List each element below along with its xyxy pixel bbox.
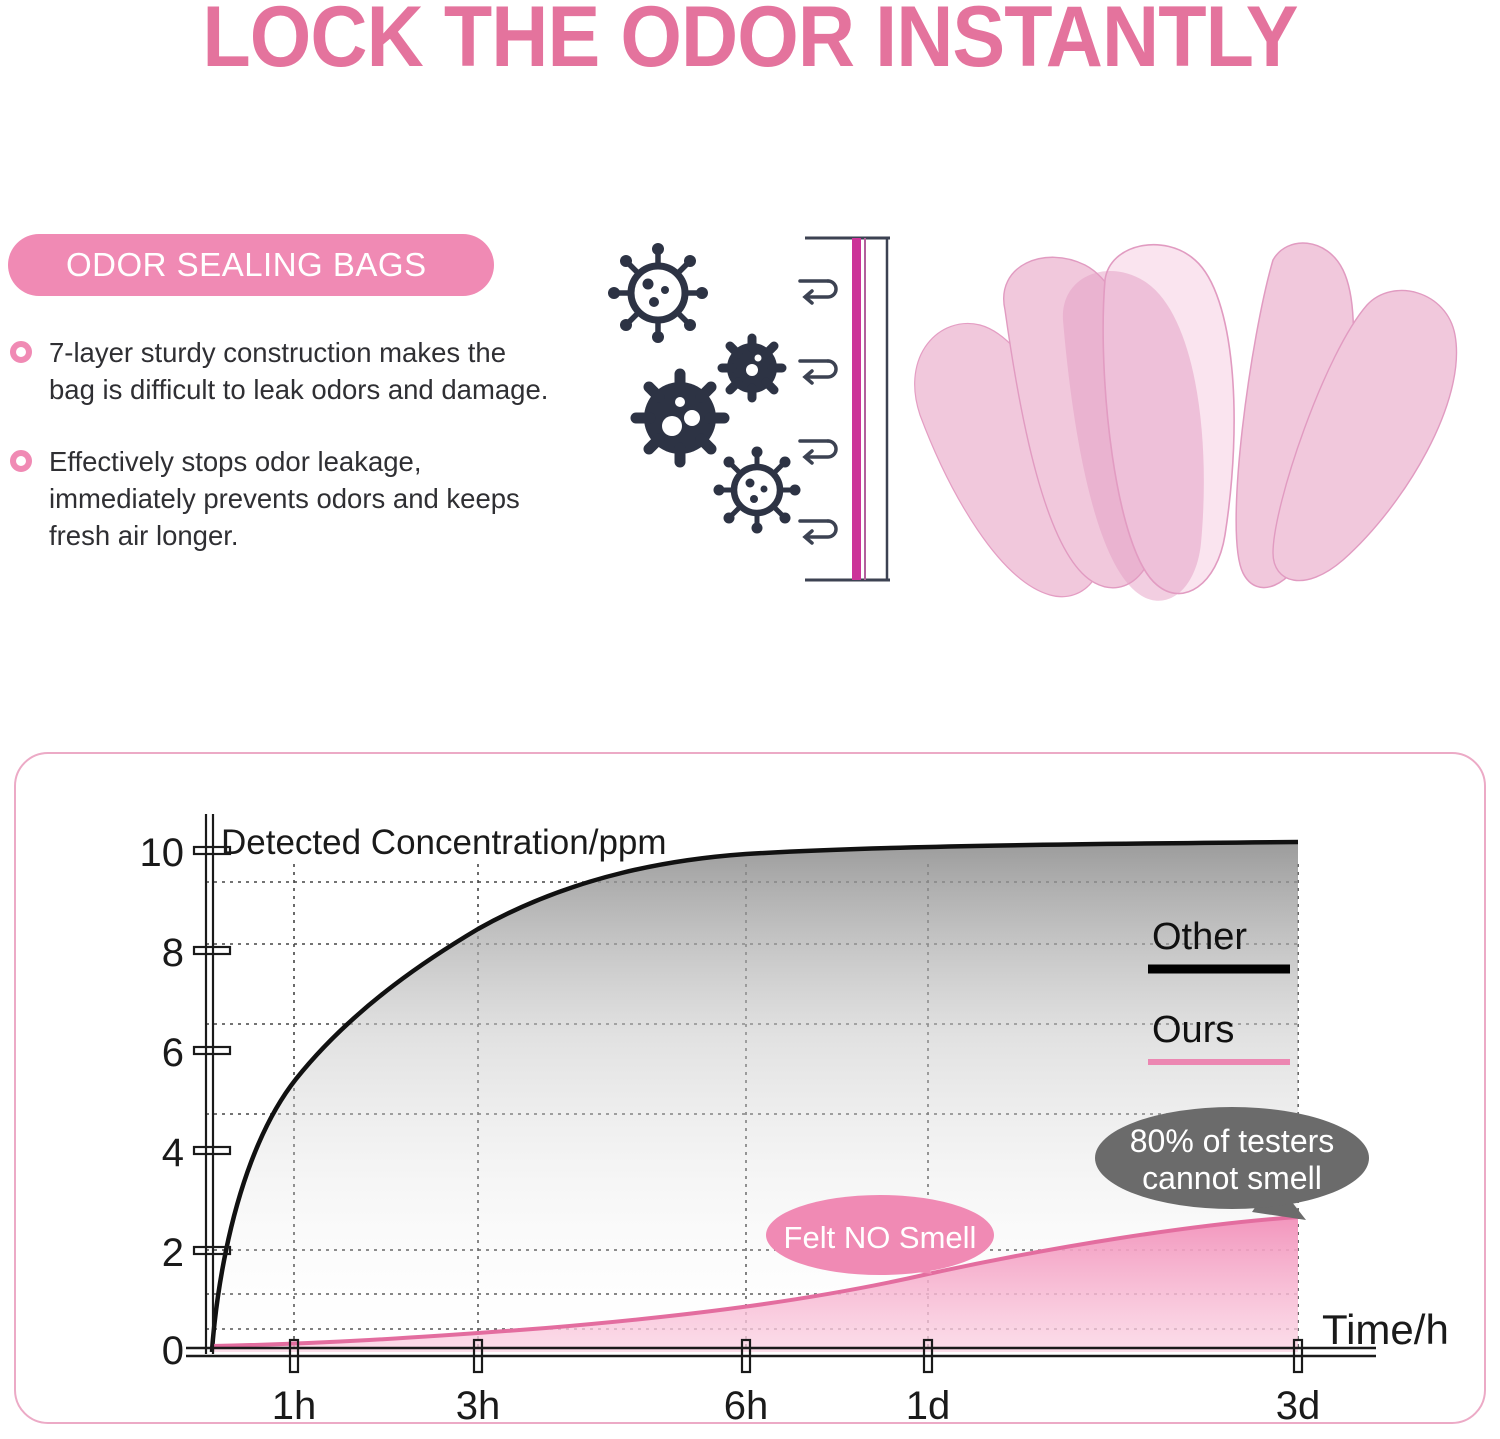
testers-callout-line-2: cannot smell <box>1142 1160 1322 1196</box>
chart-y-axis-title: Detected Concentration/ppm <box>221 823 667 862</box>
chart-y-tick-label: 4 <box>162 1131 184 1175</box>
chart-y-tick-label: 6 <box>162 1031 184 1075</box>
chart-x-tick-label: 1h <box>272 1384 317 1426</box>
chart-x-tick-label: 3d <box>1276 1384 1321 1426</box>
ring-bullet-icon <box>10 450 32 472</box>
germ-icon-spiky <box>714 447 801 534</box>
badge-label: ODOR SEALING BAGS <box>8 246 427 284</box>
ring-bullet-icon <box>10 341 32 363</box>
list-item: 7-layer sturdy construction makes the ba… <box>10 334 570 408</box>
deflect-arrow-icon <box>800 281 836 303</box>
deflect-arrow-icon <box>800 441 836 463</box>
list-item-label: 7-layer sturdy construction makes the ba… <box>49 334 548 408</box>
legend-label-other: Other <box>1152 916 1247 958</box>
deflect-arrow-icon <box>800 521 836 543</box>
barrier-wall <box>805 238 890 580</box>
chart-y-tick-label: 0 <box>162 1329 184 1373</box>
chart-y-tick-label: 2 <box>162 1231 184 1275</box>
chart-x-tick-label: 3h <box>456 1384 501 1426</box>
testers-callout-line-1: 80% of testers <box>1130 1123 1335 1159</box>
legend-label-ours: Ours <box>1152 1009 1234 1051</box>
felt-no-smell-callout-label: Felt NO Smell <box>784 1220 977 1255</box>
list-item-label: Effectively stops odor leakage, immediat… <box>49 443 520 554</box>
list-item: Effectively stops odor leakage, immediat… <box>10 443 570 554</box>
petal-fan-illustration <box>895 225 1500 650</box>
chart-y-tick-label: 8 <box>162 931 184 975</box>
felt-no-smell-callout: Felt NO Smell <box>766 1195 994 1275</box>
germ-icon-large <box>608 243 708 343</box>
germ-icon-small <box>722 338 782 398</box>
chart-y-tick-labels: 10 8 6 4 2 0 <box>140 831 185 1373</box>
chart-x-tick-label: 1d <box>906 1384 951 1426</box>
chart-x-tick-label: 6h <box>724 1384 769 1426</box>
chart-y-tick-label: 10 <box>140 831 185 875</box>
germ-icon-medium <box>636 374 724 462</box>
page-title: LOCK THE ODOR INSTANTLY <box>60 0 1440 82</box>
odor-concentration-chart-panel: Detected Concentration/ppm <box>14 752 1486 1424</box>
chart-x-axis-title: Time/h <box>1322 1306 1449 1353</box>
deflect-arrow-icon <box>800 361 836 383</box>
chart-x-tick-labels: 1h 3h 6h 1d 3d <box>272 1384 1321 1426</box>
odor-barrier-illustration <box>600 228 900 590</box>
odor-sealing-bags-badge: ODOR SEALING BAGS <box>8 234 494 296</box>
